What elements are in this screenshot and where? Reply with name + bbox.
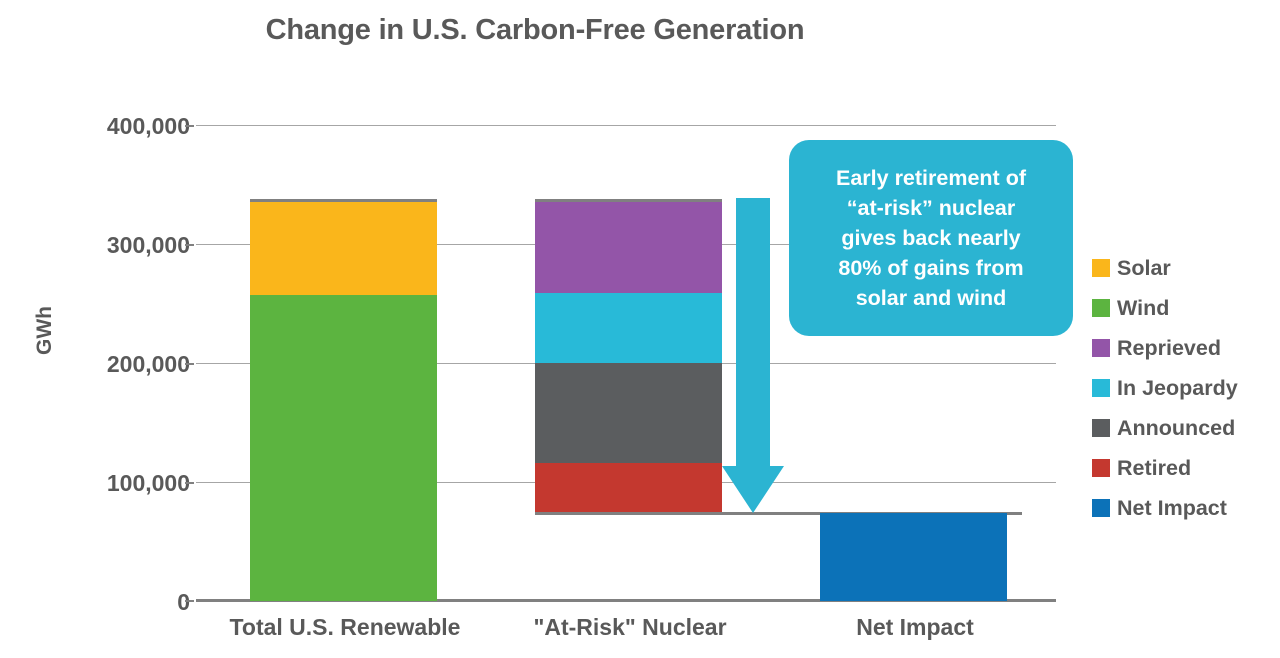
- chart-legend: Solar Wind Reprieved In Jeopardy Announc…: [1092, 248, 1280, 528]
- legend-label-in-jeopardy: In Jeopardy: [1117, 376, 1238, 401]
- y-tick-label-200000: 200,000: [107, 351, 190, 378]
- y-tick-mark-0: [185, 600, 194, 602]
- y-tick-mark-300000: [185, 244, 194, 246]
- bar-segment-in-jeopardy: [535, 293, 722, 363]
- legend-item-reprieved[interactable]: Reprieved: [1092, 328, 1280, 368]
- legend-label-net-impact: Net Impact: [1117, 496, 1227, 521]
- legend-swatch-retired-icon: [1092, 459, 1110, 477]
- legend-item-solar[interactable]: Solar: [1092, 248, 1280, 288]
- legend-swatch-wind-icon: [1092, 299, 1110, 317]
- legend-label-announced: Announced: [1117, 416, 1235, 441]
- legend-item-wind[interactable]: Wind: [1092, 288, 1280, 328]
- bar-segment-net-impact: [820, 513, 1007, 601]
- bar-segment-retired: [535, 463, 722, 513]
- legend-item-announced[interactable]: Announced: [1092, 408, 1280, 448]
- bar2-top-connector: [535, 199, 722, 202]
- legend-label-reprieved: Reprieved: [1117, 336, 1221, 361]
- y-tick-mark-400000: [185, 125, 194, 127]
- legend-swatch-solar-icon: [1092, 259, 1110, 277]
- callout-line-4: 80% of gains from: [836, 253, 1026, 283]
- chart-title: Change in U.S. Carbon-Free Generation: [0, 14, 1070, 47]
- y-tick-label-300000: 300,000: [107, 232, 190, 259]
- bar-segment-announced: [535, 363, 722, 463]
- down-arrow-annotation: [722, 198, 792, 513]
- gridline-400000: [196, 125, 1056, 126]
- legend-item-net-impact[interactable]: Net Impact: [1092, 488, 1280, 528]
- bar-segment-solar: [250, 201, 437, 295]
- bar-segment-wind: [250, 295, 437, 601]
- bar1-top-connector: [250, 199, 437, 202]
- y-tick-mark-100000: [185, 482, 194, 484]
- legend-label-wind: Wind: [1117, 296, 1169, 321]
- callout-line-3: gives back nearly: [836, 223, 1026, 253]
- legend-swatch-in-jeopardy-icon: [1092, 379, 1110, 397]
- legend-label-retired: Retired: [1117, 456, 1191, 481]
- legend-swatch-net-impact-icon: [1092, 499, 1110, 517]
- y-axis-title: GWh: [33, 306, 57, 355]
- x-axis-label-net-impact: Net Impact: [730, 614, 1100, 641]
- callout-annotation: Early retirement of “at-risk” nuclear gi…: [789, 140, 1073, 336]
- legend-item-in-jeopardy[interactable]: In Jeopardy: [1092, 368, 1280, 408]
- callout-line-2: “at-risk” nuclear: [836, 193, 1026, 223]
- y-tick-label-400000: 400,000: [107, 113, 190, 140]
- y-tick-label-100000: 100,000: [107, 470, 190, 497]
- callout-line-1: Early retirement of: [836, 163, 1026, 193]
- y-tick-label-0: 0: [177, 589, 190, 616]
- chart-container: Change in U.S. Carbon-Free Generation GW…: [0, 0, 1280, 658]
- bar-segment-reprieved: [535, 201, 722, 293]
- legend-item-retired[interactable]: Retired: [1092, 448, 1280, 488]
- legend-swatch-announced-icon: [1092, 419, 1110, 437]
- callout-line-5: solar and wind: [836, 283, 1026, 313]
- y-tick-mark-200000: [185, 363, 194, 365]
- legend-label-solar: Solar: [1117, 256, 1171, 281]
- legend-swatch-reprieved-icon: [1092, 339, 1110, 357]
